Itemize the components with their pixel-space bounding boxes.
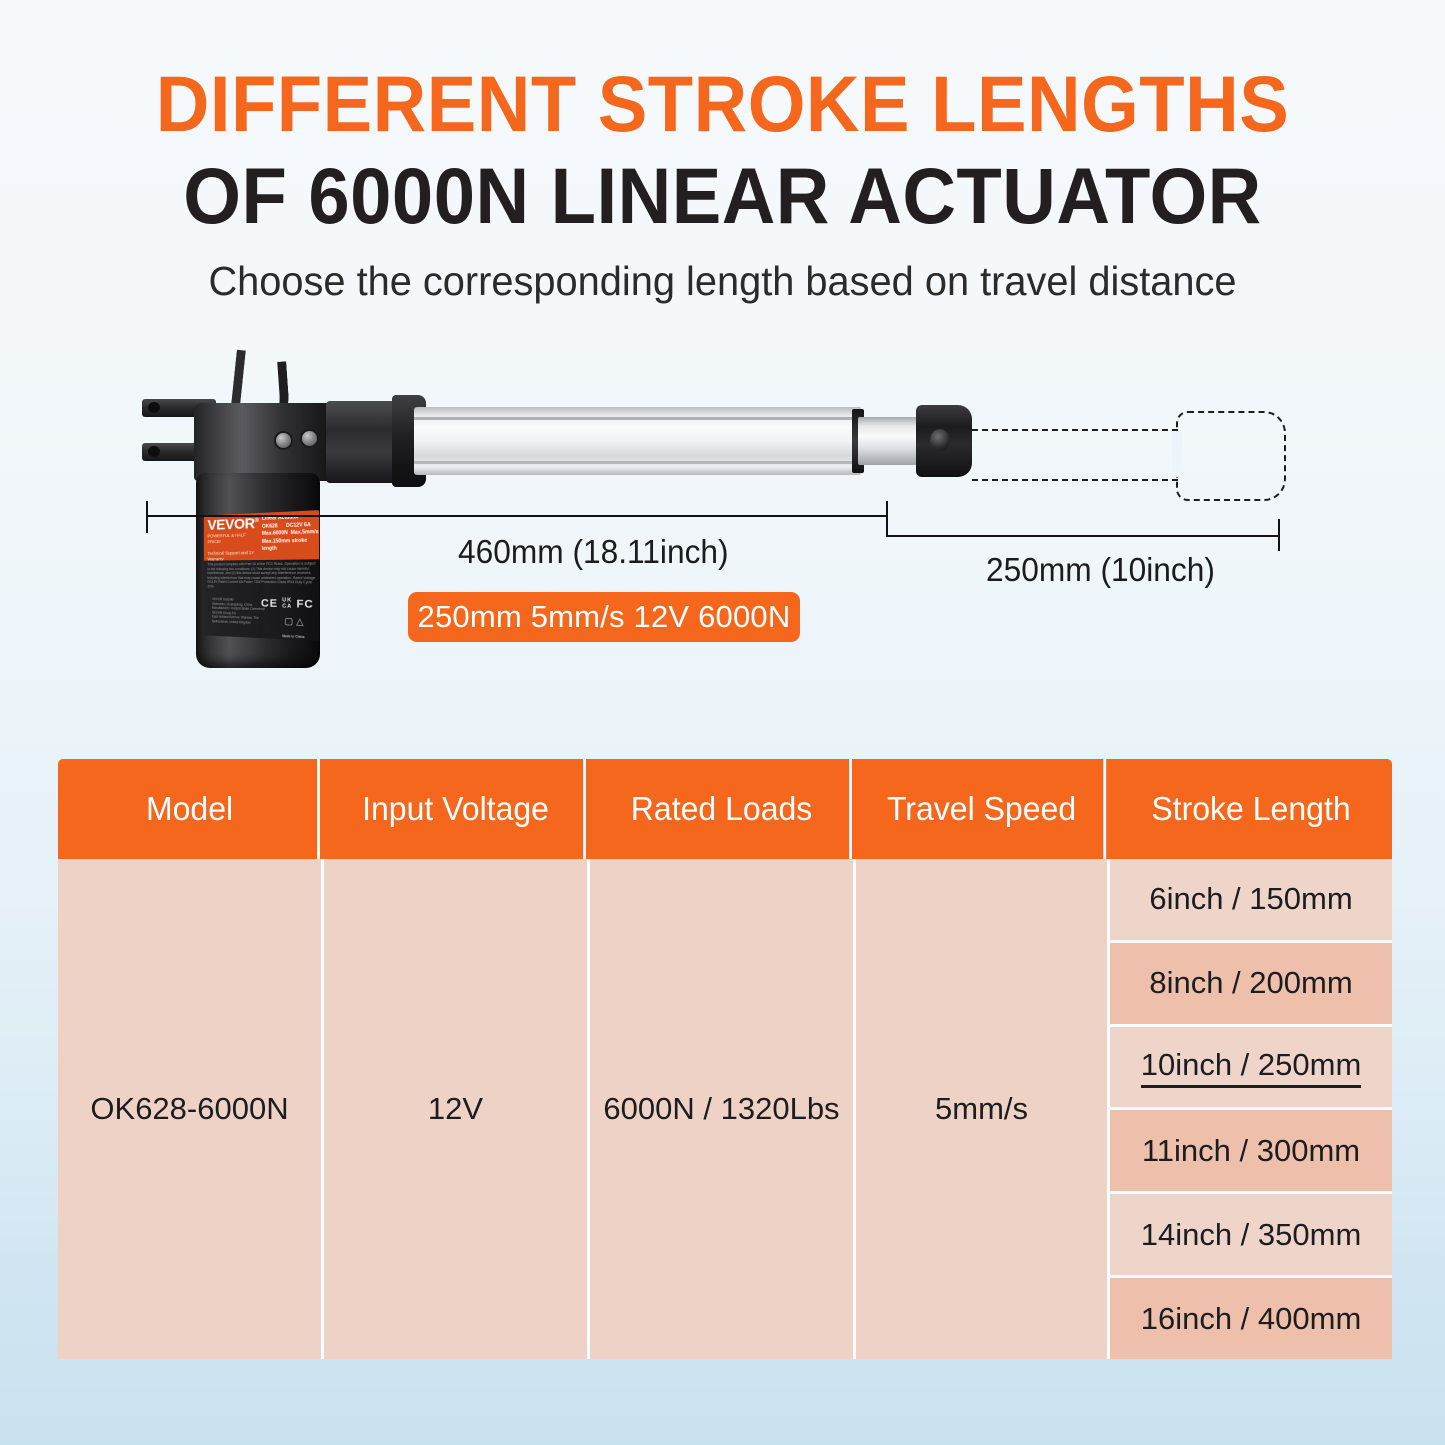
tube-groove-top (414, 417, 862, 420)
dim-label-retracted: 460mm (18.11inch) (458, 533, 729, 571)
table-header-travel-speed: Travel Speed (860, 759, 1106, 859)
label-brand-mark: ® (255, 518, 259, 524)
stroke-outline-bottom (972, 479, 1178, 481)
dim-label-stroke: 250mm (10inch) (986, 551, 1215, 589)
stroke-option[interactable]: 11inch / 300mm (1110, 1110, 1392, 1194)
stroke-option-label: 10inch / 250mm (1141, 1047, 1362, 1088)
product-label: VEVOR® POWERFUL & HALF PRICE!Technical S… (204, 510, 319, 641)
label-symbol-marks: ▢△ (284, 616, 306, 628)
table-cell-rated-loads: 6000N / 1320Lbs (590, 859, 856, 1359)
stroke-option[interactable]: 8inch / 200mm (1110, 943, 1392, 1027)
stroke-length-column: 6inch / 150mm 8inch / 200mm 10inch / 250… (1110, 859, 1392, 1359)
housing-screw-right (302, 431, 317, 446)
infographic-page: DIFFERENT STROKE LENGTHS OF 6000N LINEAR… (0, 0, 1445, 1445)
stroke-option-label: 8inch / 200mm (1149, 965, 1352, 1001)
page-title-line1: DIFFERENT STROKE LENGTHS (43, 58, 1401, 150)
stroke-option-label: 16inch / 400mm (1141, 1301, 1362, 1337)
dim-tick-middle (886, 501, 888, 537)
table-header-model: Model (62, 759, 320, 859)
spec-badge-label: 250mm 5mm/s 12V 6000N (418, 599, 791, 635)
extension-rod (858, 417, 924, 465)
stroke-option[interactable]: 16inch / 400mm (1110, 1278, 1392, 1359)
spec-table: Model Input Voltage Rated Loads Travel S… (58, 759, 1392, 1359)
dim-line-retracted (146, 515, 886, 517)
dim-tick-right (1278, 519, 1280, 551)
label-orange-band: VEVOR® POWERFUL & HALF PRICE!Technical S… (204, 510, 319, 561)
label-brand: VEVOR® (208, 515, 259, 534)
label-certification-marks: CE UKCA FC (261, 598, 314, 611)
table-cell-travel-speed: 5mm/s (856, 859, 1110, 1359)
stroke-option-label: 14inch / 350mm (1141, 1217, 1362, 1253)
stroke-option-label: 6inch / 150mm (1149, 881, 1352, 917)
housing-screw-left (276, 433, 291, 448)
table-header-row: Model Input Voltage Rated Loads Travel S… (58, 759, 1392, 859)
table-header-stroke-length: Stroke Length (1114, 759, 1388, 859)
label-fineprint: This product complies with Part 15 of th… (208, 561, 317, 590)
spec-badge: 250mm 5mm/s 12V 6000N (408, 592, 800, 642)
label-specs: Linear ActuatorOK628 DC12V 6AMax.6000N M… (262, 513, 319, 554)
label-made-in: Made in China (282, 634, 304, 639)
stroke-outline-top (972, 429, 1178, 431)
stroke-outline-join-mask (1172, 431, 1182, 477)
stroke-outline-head (1176, 411, 1286, 501)
page-subtitle: Choose the corresponding length based on… (22, 256, 1424, 306)
table-cell-input-voltage: 12V (324, 859, 590, 1359)
rear-bracket-upper-hole (148, 402, 160, 413)
table-header-rated-loads: Rated Loads (594, 759, 852, 859)
rear-bracket-lower-hole (148, 446, 160, 457)
title-block: DIFFERENT STROKE LENGTHS OF 6000N LINEAR… (0, 58, 1445, 306)
table-cell-model: OK628-6000N (58, 859, 324, 1359)
dim-line-stroke (886, 535, 1278, 537)
table-body: OK628-6000N 12V 6000N / 1320Lbs 5mm/s 6i… (58, 859, 1392, 1359)
ukca-mark: UKCA (282, 598, 292, 609)
stroke-option[interactable]: 6inch / 150mm (1110, 859, 1392, 943)
page-title-line2: OF 6000N LINEAR ACTUATOR (43, 150, 1401, 242)
tube-groove-bottom (414, 461, 862, 464)
motor-top-housing (194, 403, 344, 481)
front-mounting-hole (930, 429, 950, 451)
stroke-option-selected[interactable]: 10inch / 250mm (1110, 1027, 1392, 1111)
label-black-band: This product complies with Part 15 of th… (204, 559, 319, 641)
dim-tick-left (146, 501, 148, 533)
stroke-option-label: 11inch / 300mm (1142, 1133, 1360, 1169)
stroke-option[interactable]: 14inch / 350mm (1110, 1194, 1392, 1278)
table-header-input-voltage: Input Voltage (328, 759, 586, 859)
